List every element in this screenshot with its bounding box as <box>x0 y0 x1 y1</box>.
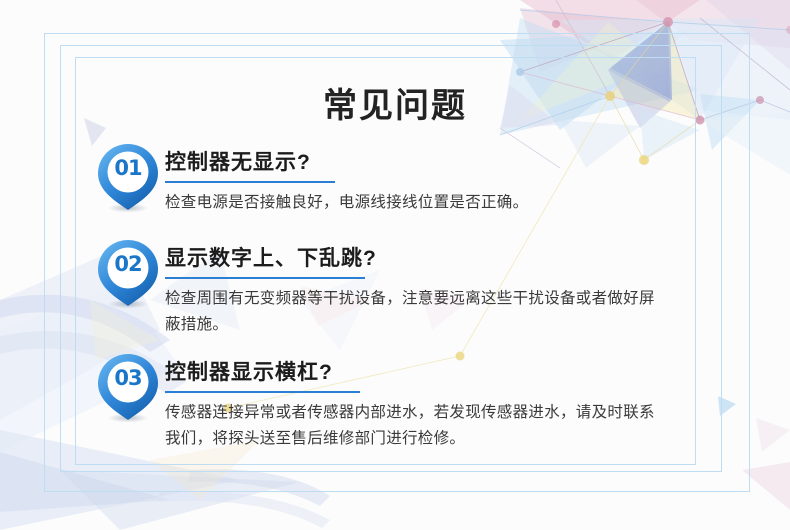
faq-item-description: 传感器连接异常或者传感器内部进水，若发现传感器进水，请及时联系我们，将探头送至售… <box>165 400 670 452</box>
faq-item-underline <box>165 181 335 183</box>
faq-item-heading: 控制器无显示? <box>165 146 765 176</box>
faq-item-underline <box>165 391 360 393</box>
faq-item-underline <box>165 277 365 279</box>
faq-item-body: 控制器无显示? 检查电源是否接触良好，电源线接线位置是否正确。 <box>165 146 765 216</box>
map-pin-icon: 03 <box>95 352 161 424</box>
faq-item-body: 控制器显示横杠? 传感器连接异常或者传感器内部进水，若发现传感器进水，请及时联系… <box>165 356 765 452</box>
faq-infographic-page: 常见问题 <box>0 0 790 530</box>
faq-item-heading: 控制器显示横杠? <box>165 356 765 386</box>
map-pin-icon: 01 <box>95 142 161 214</box>
faq-item-description: 检查电源是否接触良好，电源线接线位置是否正确。 <box>165 190 670 216</box>
page-title: 常见问题 <box>0 78 790 127</box>
faq-item-body: 显示数字上、下乱跳? 检查周围有无变频器等干扰设备，注意要远离这些干扰设备或者做… <box>165 242 765 338</box>
faq-item-number: 02 <box>95 252 161 276</box>
faq-content: 常见问题 <box>0 0 790 530</box>
map-pin-icon: 02 <box>95 238 161 310</box>
faq-item-description: 检查周围有无变频器等干扰设备，注意要远离这些干扰设备或者做好屏蔽措施。 <box>165 286 670 338</box>
faq-item-heading: 显示数字上、下乱跳? <box>165 242 765 272</box>
faq-item-number: 01 <box>95 156 161 180</box>
faq-item-number: 03 <box>95 366 161 390</box>
